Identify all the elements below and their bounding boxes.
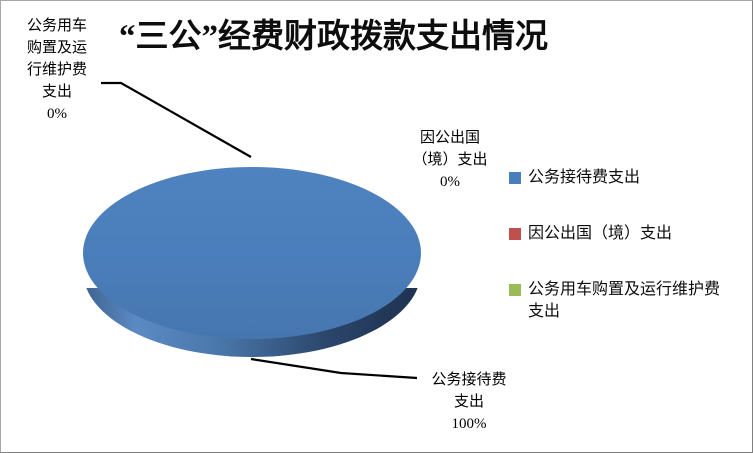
legend-swatch-red-icon	[509, 228, 521, 240]
data-label-abroad-line2: （境）支出	[379, 149, 521, 171]
data-label-abroad-percent: 0%	[379, 171, 521, 193]
legend-label-abroad: 因公出国（境）支出	[528, 223, 672, 245]
leader-line-vehicle	[101, 83, 251, 157]
legend-label-vehicle: 公务用车购置及运行维护费支出	[528, 279, 728, 323]
data-label-hospitality-percent: 100%	[393, 413, 545, 435]
data-label-hospitality[interactable]: 公务接待费 支出 100%	[393, 369, 545, 435]
data-label-vehicle[interactable]: 公务用车 购置及运 行维护费 支出 0%	[3, 15, 111, 125]
data-label-vehicle-percent: 0%	[3, 103, 111, 125]
data-label-hospitality-line1: 公务接待费	[393, 369, 545, 391]
legend-item-vehicle[interactable]: 公务用车购置及运行维护费支出	[509, 279, 744, 323]
pie-slice-hospitality[interactable]	[83, 167, 421, 339]
data-label-abroad-line1: 因公出国	[379, 127, 521, 149]
pie-chart-3d[interactable]	[83, 167, 421, 372]
legend-swatch-blue-icon	[509, 172, 521, 184]
data-label-hospitality-line2: 支出	[393, 391, 545, 413]
legend-label-hospitality: 公务接待费支出	[528, 167, 640, 189]
data-label-vehicle-line3: 行维护费	[3, 59, 111, 81]
legend-item-hospitality[interactable]: 公务接待费支出	[509, 167, 744, 189]
data-label-vehicle-line2: 购置及运	[3, 37, 111, 59]
data-label-abroad[interactable]: 因公出国 （境）支出 0%	[379, 127, 521, 193]
legend-swatch-green-icon	[509, 284, 521, 296]
data-label-vehicle-line4: 支出	[3, 81, 111, 103]
chart-title: “三公”经费财政拨款支出情况	[119, 9, 679, 57]
chart-legend: 公务接待费支出 因公出国（境）支出 公务用车购置及运行维护费支出	[509, 167, 744, 357]
legend-item-abroad[interactable]: 因公出国（境）支出	[509, 223, 744, 245]
data-label-vehicle-line1: 公务用车	[3, 15, 111, 37]
chart-container: “三公”经费财政拨款支出情况 公务用车 购置及运 行维护费 支出 0% 因公出国…	[0, 0, 753, 453]
